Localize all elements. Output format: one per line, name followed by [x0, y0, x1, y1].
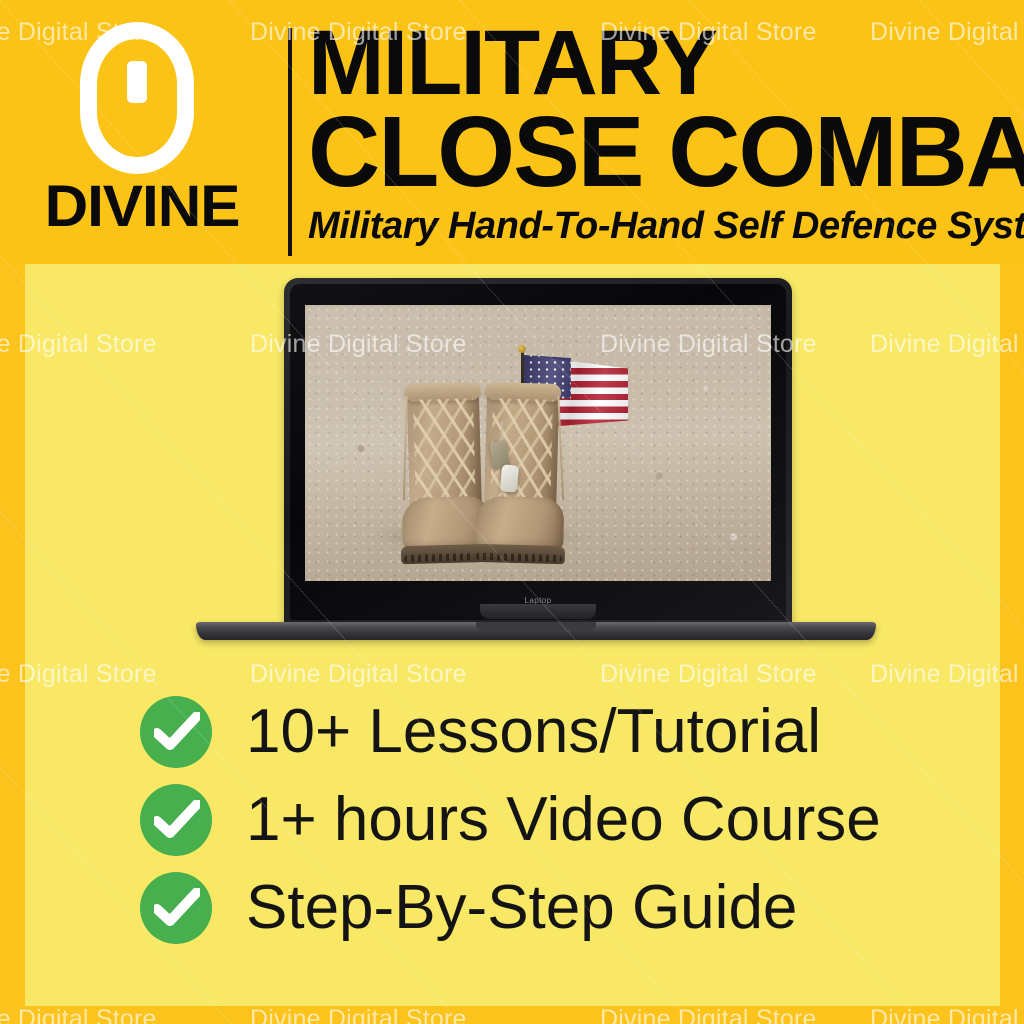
laptop-screen [305, 305, 771, 581]
feature-list: 10+ Lessons/Tutorial 1+ hours Video Cour… [140, 688, 940, 952]
feature-label: Step-By-Step Guide [246, 877, 797, 939]
laptop-base-notch [476, 622, 596, 631]
feature-label: 10+ Lessons/Tutorial [246, 701, 821, 763]
boot-laces [413, 398, 476, 504]
feature-label: 1+ hours Video Course [246, 789, 881, 851]
list-item: Step-By-Step Guide [140, 864, 940, 952]
flag-finial-icon [518, 345, 526, 353]
rounded-mouse-outline-icon [80, 22, 194, 174]
check-circle-icon [140, 696, 212, 768]
watermark-text: Divine Digital Store [870, 1005, 1024, 1024]
laptop-bezel [290, 284, 786, 620]
dog-tag-secondary-icon [500, 464, 519, 492]
laptop-lid-notch [480, 604, 596, 619]
watermark-text: Divine Digital Store [250, 1005, 467, 1024]
combat-boot-right [475, 386, 568, 564]
title-line-1: MILITARY [308, 24, 1008, 103]
boot-lace-tail [557, 396, 564, 500]
list-item: 1+ hours Video Course [140, 776, 940, 864]
check-circle-icon [140, 784, 212, 856]
watermark-text: Divine Digital Store [600, 1005, 817, 1024]
header-divider [288, 28, 292, 256]
title-block: MILITARY CLOSE COMBAT Military Hand-To-H… [308, 10, 1008, 248]
product-banner: DIVINE MILITARY CLOSE COMBAT Military Ha… [0, 0, 1024, 1024]
boot-sole [473, 544, 565, 564]
boot-lace-tail [403, 396, 408, 500]
list-item: 10+ Lessons/Tutorial [140, 688, 940, 776]
laptop-lid: Laptop [284, 278, 792, 626]
title-line-2: CLOSE COMBAT [308, 109, 1008, 195]
laptop-mockup: Laptop [196, 278, 876, 658]
boot-toe [475, 496, 564, 550]
screen-photo [305, 305, 771, 581]
brand-logo[interactable]: DIVINE [14, 18, 270, 248]
brand-name: DIVINE [9, 178, 275, 236]
subtitle: Military Hand-To-Hand Self Defence Syste… [308, 205, 1008, 248]
check-circle-icon [140, 872, 212, 944]
logo-inner-bar-icon [127, 61, 147, 103]
watermark-text: Divine Digital Store [0, 1005, 157, 1024]
